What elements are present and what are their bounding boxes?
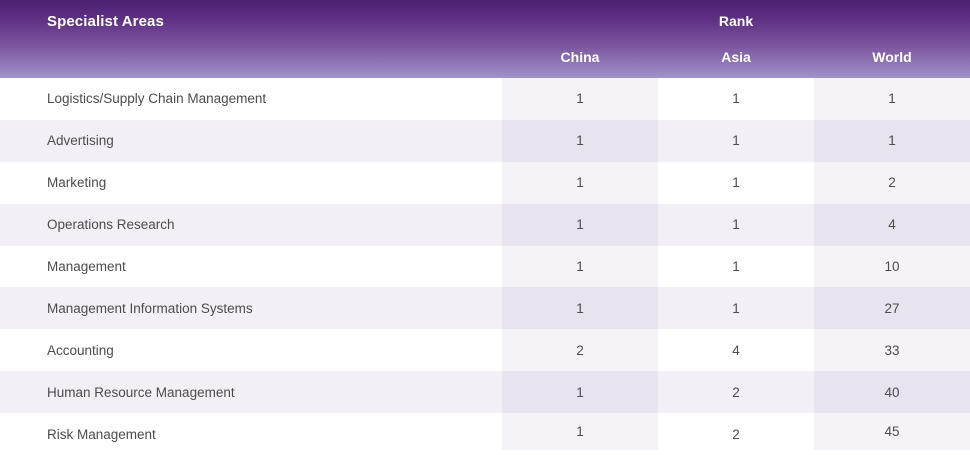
cell-rank-world: 40 xyxy=(814,371,970,413)
cell-rank-china: 1 xyxy=(502,120,658,162)
cell-rank-asia: 1 xyxy=(658,162,814,204)
table-row: Risk Management 1 2 45 xyxy=(0,413,970,455)
table-row: Management Information Systems 1 1 27 xyxy=(0,287,970,329)
cell-specialist-area: Management xyxy=(47,246,126,288)
cell-specialist-area: Operations Research xyxy=(47,204,175,246)
cell-rank-china: 1 xyxy=(502,413,658,450)
specialist-areas-table: Specialist Areas Rank China Asia World L… xyxy=(0,0,970,455)
cell-rank-asia: 1 xyxy=(658,287,814,329)
cell-specialist-area: Human Resource Management xyxy=(47,371,235,413)
cell-rank-asia: 2 xyxy=(658,371,814,413)
table-body: Logistics/Supply Chain Management 1 1 1 … xyxy=(0,78,970,455)
table-row: Logistics/Supply Chain Management 1 1 1 xyxy=(0,78,970,120)
cell-specialist-area: Marketing xyxy=(47,162,106,204)
cell-rank-world: 4 xyxy=(814,204,970,246)
cell-rank-world: 45 xyxy=(814,413,970,450)
column-header-china: China xyxy=(502,49,658,65)
column-group-header-rank: Rank xyxy=(658,13,814,29)
cell-rank-asia: 1 xyxy=(658,78,814,120)
table-row: Human Resource Management 1 2 40 xyxy=(0,371,970,413)
cell-rank-world: 33 xyxy=(814,329,970,371)
column-header-specialist-areas: Specialist Areas xyxy=(47,13,164,30)
table-row: Accounting 2 4 33 xyxy=(0,329,970,371)
cell-rank-china: 1 xyxy=(502,78,658,120)
cell-specialist-area: Risk Management xyxy=(47,413,156,455)
table-row: Operations Research 1 1 4 xyxy=(0,204,970,246)
cell-rank-china: 1 xyxy=(502,371,658,413)
cell-rank-asia: 1 xyxy=(658,204,814,246)
cell-rank-world: 27 xyxy=(814,287,970,329)
table-row: Marketing 1 1 2 xyxy=(0,162,970,204)
cell-rank-china: 1 xyxy=(502,162,658,204)
cell-rank-china: 2 xyxy=(502,329,658,371)
table-row: Advertising 1 1 1 xyxy=(0,120,970,162)
table-header: Specialist Areas Rank China Asia World xyxy=(0,0,970,78)
table-row: Management 1 1 10 xyxy=(0,246,970,288)
cell-rank-asia: 2 xyxy=(658,413,814,455)
cell-rank-world: 2 xyxy=(814,162,970,204)
cell-rank-world: 10 xyxy=(814,246,970,288)
cell-specialist-area: Accounting xyxy=(47,329,114,371)
cell-rank-china: 1 xyxy=(502,246,658,288)
cell-rank-china: 1 xyxy=(502,287,658,329)
cell-rank-china: 1 xyxy=(502,204,658,246)
cell-rank-world: 1 xyxy=(814,78,970,120)
column-header-asia: Asia xyxy=(658,49,814,65)
cell-rank-asia: 4 xyxy=(658,329,814,371)
cell-specialist-area: Logistics/Supply Chain Management xyxy=(47,78,266,120)
column-header-world: World xyxy=(814,49,970,65)
cell-specialist-area: Management Information Systems xyxy=(47,287,253,329)
cell-rank-asia: 1 xyxy=(658,246,814,288)
cell-rank-asia: 1 xyxy=(658,120,814,162)
cell-rank-world: 1 xyxy=(814,120,970,162)
cell-specialist-area: Advertising xyxy=(47,120,114,162)
